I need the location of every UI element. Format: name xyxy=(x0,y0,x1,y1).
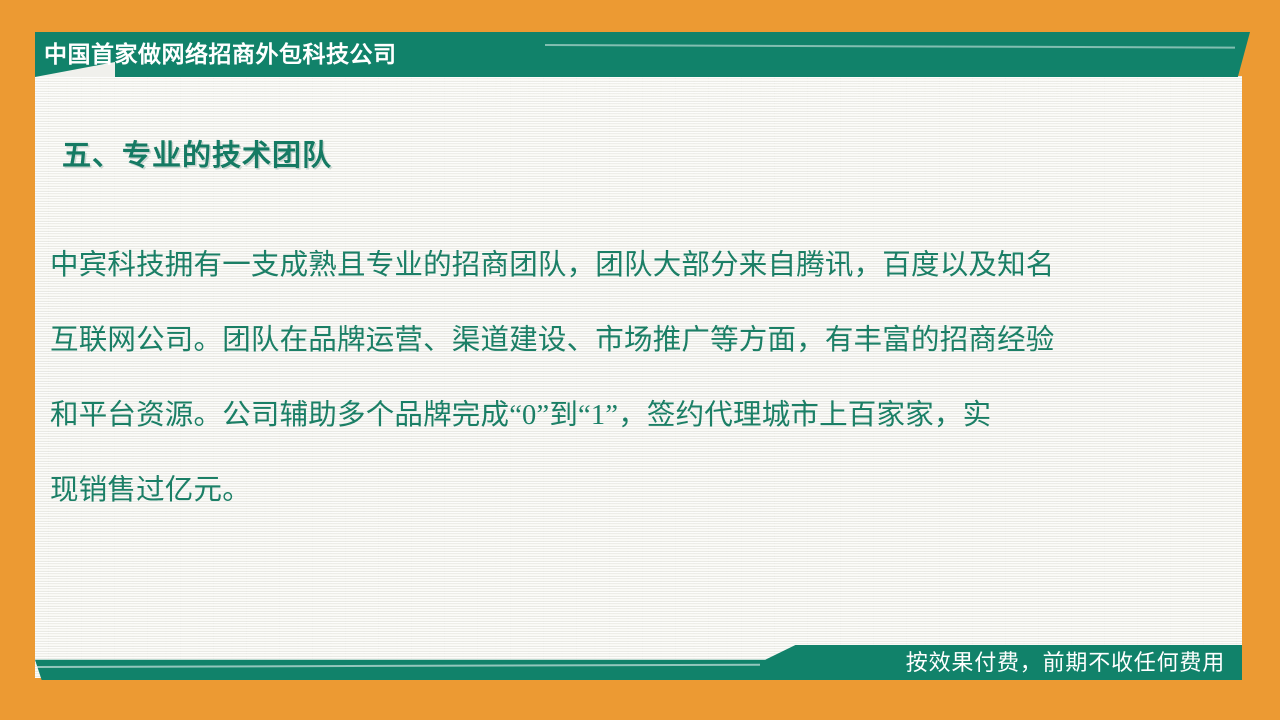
section-heading: 五、专业的技术团队 xyxy=(62,132,332,174)
body-paragraph: 中宾科技拥有一支成熟且专业的招商团队，团队大部分来自腾讯，百度以及知名 互联网公… xyxy=(50,228,1190,528)
footer-tagline: 按效果付费，前期不收任何费用 xyxy=(906,645,1225,680)
body-line: 现销售过亿元。 xyxy=(50,453,1190,528)
body-line: 互联网公司。团队在品牌运营、渠道建设、市场推广等方面，有丰富的招商经验 xyxy=(50,303,1190,378)
slide: 中国首家做网络招商外包科技公司 五、专业的技术团队 中宾科技拥有一支成熟且专业的… xyxy=(0,0,1280,720)
body-line: 和平台资源。公司辅助多个品牌完成“0”到“1”，签约代理城市上百家家，实 xyxy=(50,378,1190,453)
body-line: 中宾科技拥有一支成熟且专业的招商团队，团队大部分来自腾讯，百度以及知名 xyxy=(50,228,1190,303)
header-title: 中国首家做网络招商外包科技公司 xyxy=(44,31,397,77)
